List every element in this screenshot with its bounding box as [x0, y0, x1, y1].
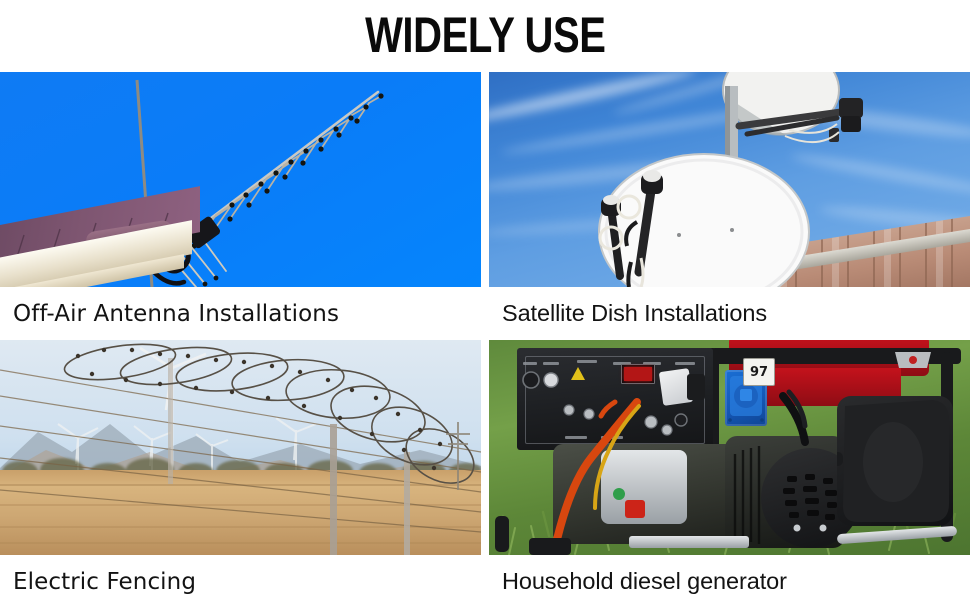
- caption-text: Satellite Dish Installations: [502, 300, 767, 327]
- fence-post: [404, 452, 410, 555]
- house-roof: [0, 211, 215, 287]
- fence-post: [168, 358, 173, 484]
- cell-satellite-dish: Satellite Dish Installations: [489, 72, 970, 340]
- caption-text: Electric Fencing: [13, 569, 196, 595]
- mesh-fence: [0, 340, 481, 555]
- fence-post: [330, 424, 337, 555]
- cabling: [489, 340, 970, 555]
- photo-satellite-dish: [489, 72, 970, 287]
- image-grid: Off-Air Antenna Installations: [0, 72, 970, 600]
- caption-household-diesel-generator: Household diesel generator: [489, 555, 970, 608]
- rubber-foot: [529, 538, 571, 555]
- photo-electric-fencing: [0, 340, 481, 555]
- photo-off-air-antenna: [0, 72, 481, 287]
- page-title: WIDELY USE: [365, 10, 606, 60]
- cell-household-diesel-generator: 97: [489, 340, 970, 608]
- cell-off-air-antenna: Off-Air Antenna Installations: [0, 72, 481, 340]
- cell-electric-fencing: Electric Fencing: [0, 340, 481, 608]
- caption-text: Off-Air Antenna Installations: [13, 301, 339, 327]
- razor-wire-coil: [62, 340, 481, 494]
- caption-off-air-antenna: Off-Air Antenna Installations: [0, 287, 481, 340]
- caption-text: Household diesel generator: [502, 568, 787, 595]
- caption-electric-fencing: Electric Fencing: [0, 555, 481, 608]
- lnb-head-upper: [839, 98, 863, 118]
- caption-satellite-dish: Satellite Dish Installations: [489, 287, 970, 340]
- widely-use-infographic: WIDELY USE: [0, 0, 970, 600]
- title-bar: WIDELY USE: [0, 0, 970, 72]
- photo-household-diesel-generator: 97: [489, 340, 970, 555]
- chassis-rail: [629, 536, 749, 548]
- satellite-assembly: [489, 72, 970, 287]
